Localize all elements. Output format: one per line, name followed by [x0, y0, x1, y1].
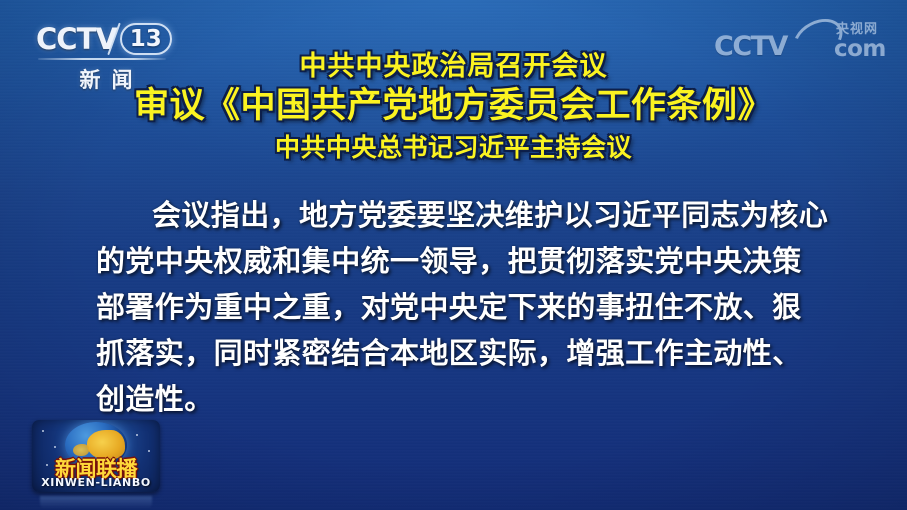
headline-line-2: 审议《中国共产党地方委员会工作条例》 [0, 88, 907, 126]
star-icon [148, 450, 150, 452]
program-logo-xinwen-lianbo: 新闻联播 XINWEN-LIANBO [32, 420, 160, 492]
star-icon [42, 430, 44, 432]
body-line: 部署作为重中之重，对党中央定下来的事扭住不放、狠 [96, 284, 839, 330]
star-icon [54, 446, 56, 448]
program-logo-reflection [40, 496, 152, 509]
cctv-wordmark: CCTV [36, 25, 117, 54]
star-icon [136, 434, 138, 436]
headline-block: 中共中央政治局召开会议 审议《中国共产党地方委员会工作条例》 中共中央总书记习近… [0, 52, 907, 161]
headline-line-1: 中共中央政治局召开会议 [0, 52, 907, 81]
body-copy-block: 会议指出，地方党委要坚决维护以习近平同志为核心 的党中央权威和集中统一领导，把贯… [96, 192, 839, 422]
watermark-site-cn: 央视网 [836, 23, 878, 36]
body-line: 的党中央权威和集中统一领导，把贯彻落实党中央决策 [96, 238, 839, 284]
body-line: 抓落实，同时紧密结合本地区实际，增强工作主动性、 [96, 330, 839, 376]
channel-number-badge: 13 [120, 23, 172, 55]
channel-number: 13 [130, 28, 162, 51]
program-title-pinyin: XINWEN-LIANBO [32, 476, 160, 489]
program-logo-plate: 新闻联播 XINWEN-LIANBO [32, 420, 160, 492]
headline-line-3: 中共中央总书记习近平主持会议 [0, 134, 907, 161]
channel-bug-row: CCTV 13 [36, 22, 186, 56]
broadcast-frame: CCTV 13 新闻 CCTV 央视网 com 中共中央政治局召开会议 审议《中… [0, 0, 907, 510]
body-line: 创造性。 [96, 376, 839, 422]
body-line: 会议指出，地方党委要坚决维护以习近平同志为核心 [96, 192, 839, 238]
